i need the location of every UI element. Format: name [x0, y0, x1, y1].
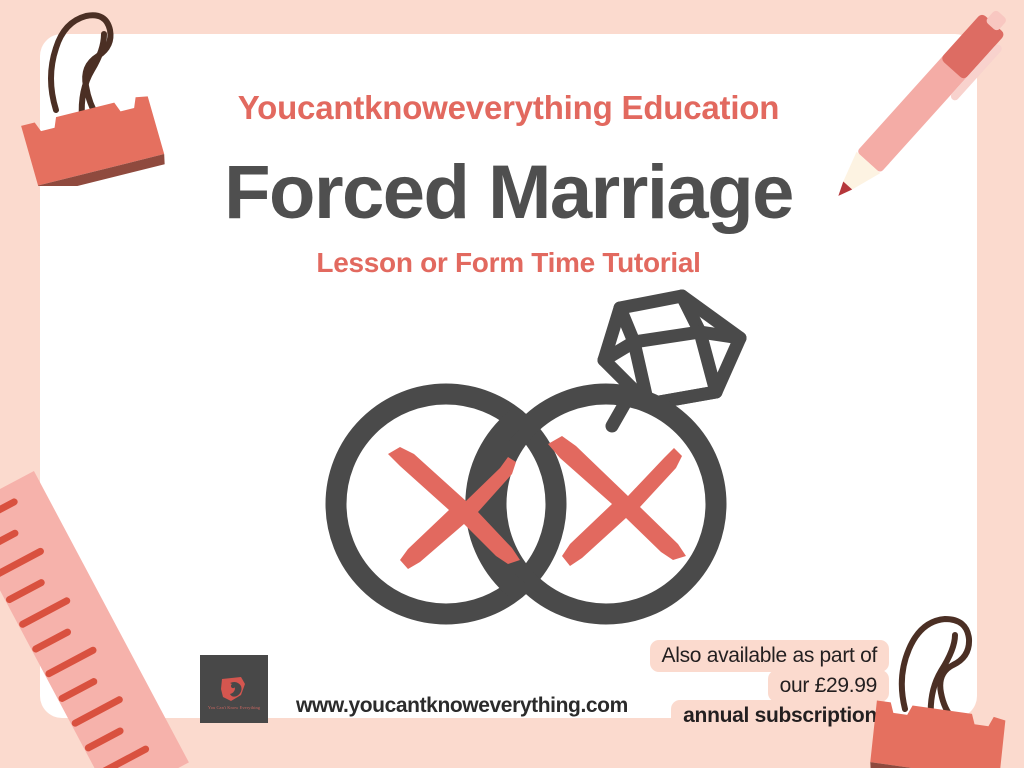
- page-subtitle: Lesson or Form Time Tutorial: [40, 247, 977, 279]
- wedding-rings-icon: [316, 286, 756, 636]
- footer-brand: You Can't Know Everything www.youcantkno…: [200, 655, 628, 723]
- white-card: Youcantknoweverything Education Forced M…: [40, 34, 977, 718]
- promo-line-3-text: annual subscription: [671, 700, 889, 732]
- logo-caption: You Can't Know Everything: [200, 705, 268, 710]
- promo-line-3: annual subscription: [650, 700, 889, 732]
- promo-badge: Also available as part of our £29.99 ann…: [650, 640, 889, 730]
- poster-canvas: Youcantknoweverything Education Forced M…: [0, 0, 1024, 768]
- site-logo: You Can't Know Everything: [200, 655, 268, 723]
- brand-line: Youcantknoweverything Education: [40, 89, 977, 127]
- promo-line-1-text: Also available as part of: [650, 640, 889, 672]
- page-title: Forced Marriage: [40, 149, 977, 236]
- promo-line-2-text: our £29.99: [768, 670, 889, 702]
- promo-line-1: Also available as part of: [650, 640, 889, 672]
- site-url: www.youcantknoweverything.com: [296, 660, 628, 718]
- logo-mark-icon: [219, 675, 249, 703]
- promo-line-2: our £29.99: [650, 670, 889, 702]
